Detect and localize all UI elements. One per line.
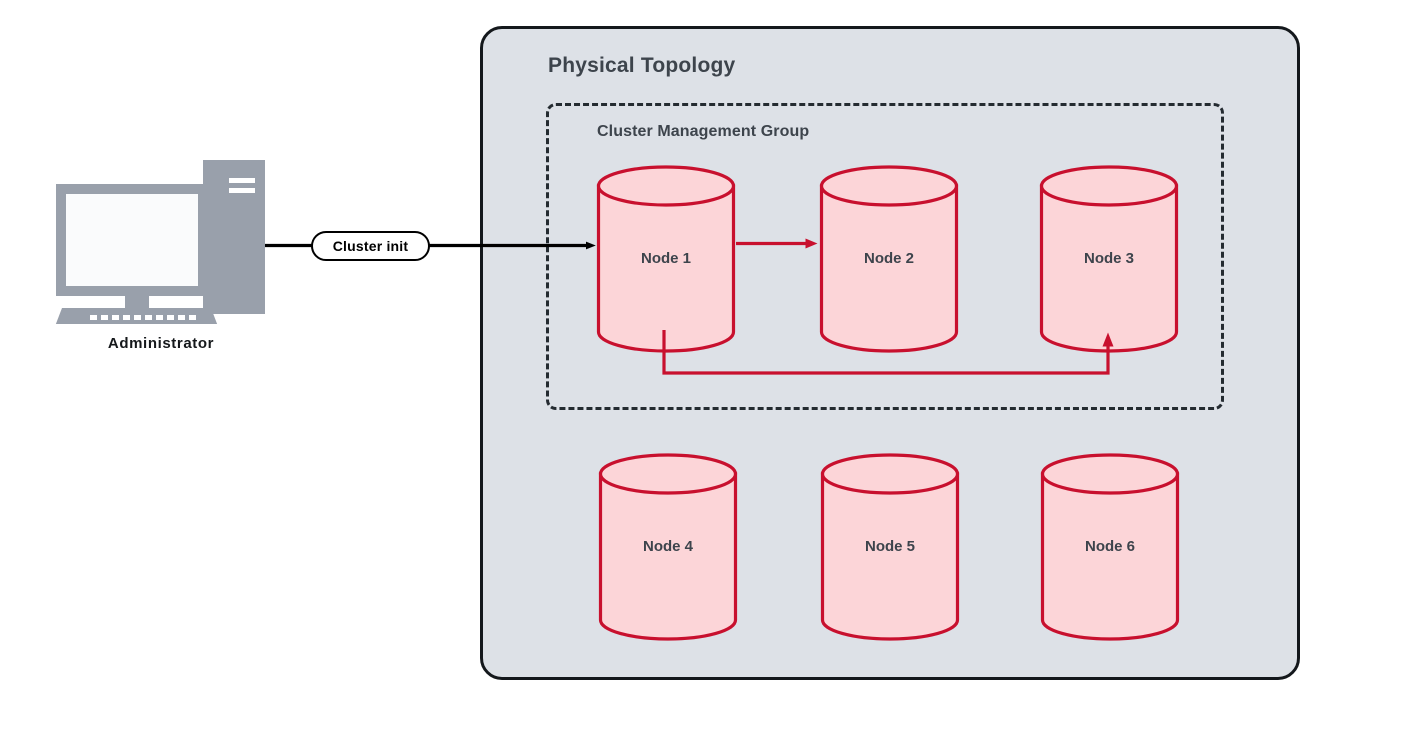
node-1-cylinder[interactable]: Node 1 bbox=[595, 164, 737, 354]
node-1-label: Node 1 bbox=[595, 250, 737, 267]
node-3-cylinder[interactable]: Node 3 bbox=[1038, 164, 1180, 354]
diagram-canvas: Physical Topology Cluster Management Gro… bbox=[0, 0, 1405, 731]
page-title: Physical Topology bbox=[548, 54, 735, 78]
node-2-label: Node 2 bbox=[818, 250, 960, 267]
node-3-label: Node 3 bbox=[1038, 250, 1180, 267]
node-5-label: Node 5 bbox=[819, 538, 961, 555]
node-4-cylinder[interactable]: Node 4 bbox=[597, 452, 739, 642]
node-6-label: Node 6 bbox=[1039, 538, 1181, 555]
node-6-cylinder[interactable]: Node 6 bbox=[1039, 452, 1181, 642]
administrator-label: Administrator bbox=[48, 335, 274, 352]
desktop-computer-icon bbox=[48, 152, 274, 324]
node-2-cylinder[interactable]: Node 2 bbox=[818, 164, 960, 354]
node-5-cylinder[interactable]: Node 5 bbox=[819, 452, 961, 642]
edge-label-cluster-init[interactable]: Cluster init bbox=[311, 231, 430, 261]
cluster-management-group-title: Cluster Management Group bbox=[597, 123, 809, 141]
node-4-label: Node 4 bbox=[597, 538, 739, 555]
